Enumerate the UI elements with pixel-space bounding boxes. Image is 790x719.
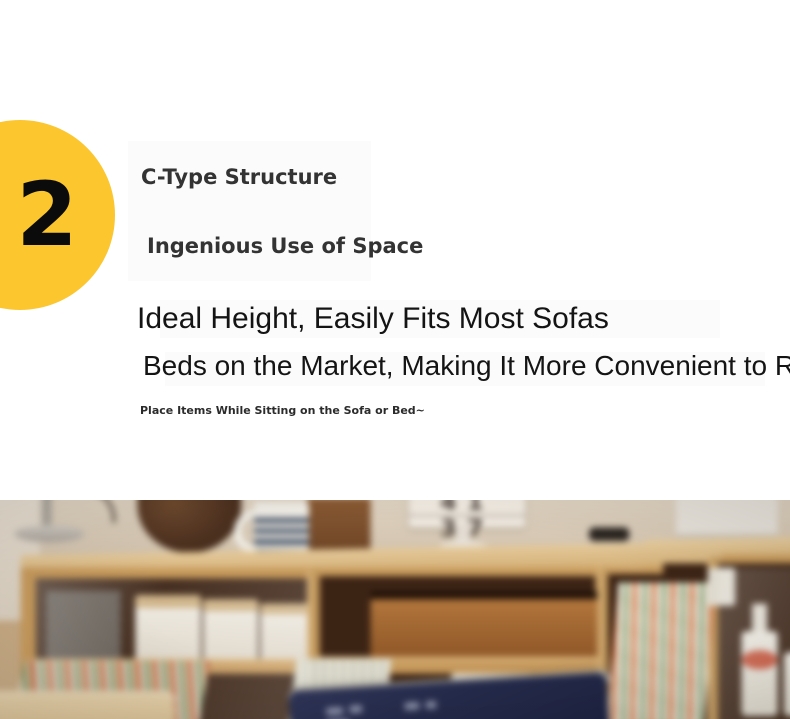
sofa-backrest (0, 695, 176, 719)
tablet-screen-icon-4 (426, 701, 437, 709)
headline-line-2: Beds on the Market, Making It More Conve… (143, 350, 790, 382)
product-lifestyle-photo: 41 37 (0, 500, 790, 719)
photo-scene: 41 37 (0, 500, 790, 719)
kicker-line-1: C-Type Structure (141, 165, 337, 189)
lamp-base (14, 525, 84, 542)
tablet-screen-icon-2 (349, 705, 362, 713)
flip-clock-split-line (409, 515, 526, 517)
headline-line-1: Ideal Height, Easily Fits Most Sofas (137, 302, 609, 336)
promo-copy-group: C-Type Structure Ingenious Use of Space … (0, 0, 790, 500)
kicker-line-2: Ingenious Use of Space (147, 234, 423, 258)
tablet-screen-icon-3 (404, 702, 419, 710)
promo-subtext: Place Items While Sitting on the Sofa or… (140, 404, 425, 417)
dark-wood-box (307, 500, 371, 553)
glass-door-right (718, 568, 790, 719)
woven-basket (371, 599, 600, 660)
tablet-screen-icon-1 (326, 707, 343, 715)
promo-text-section: 2 C-Type Structure Ingenious Use of Spac… (0, 0, 790, 500)
magazine-stack-tall (606, 582, 716, 719)
promo-page: 2 C-Type Structure Ingenious Use of Spac… (0, 0, 790, 719)
mug-rim (254, 502, 309, 515)
small-black-object (589, 527, 629, 541)
